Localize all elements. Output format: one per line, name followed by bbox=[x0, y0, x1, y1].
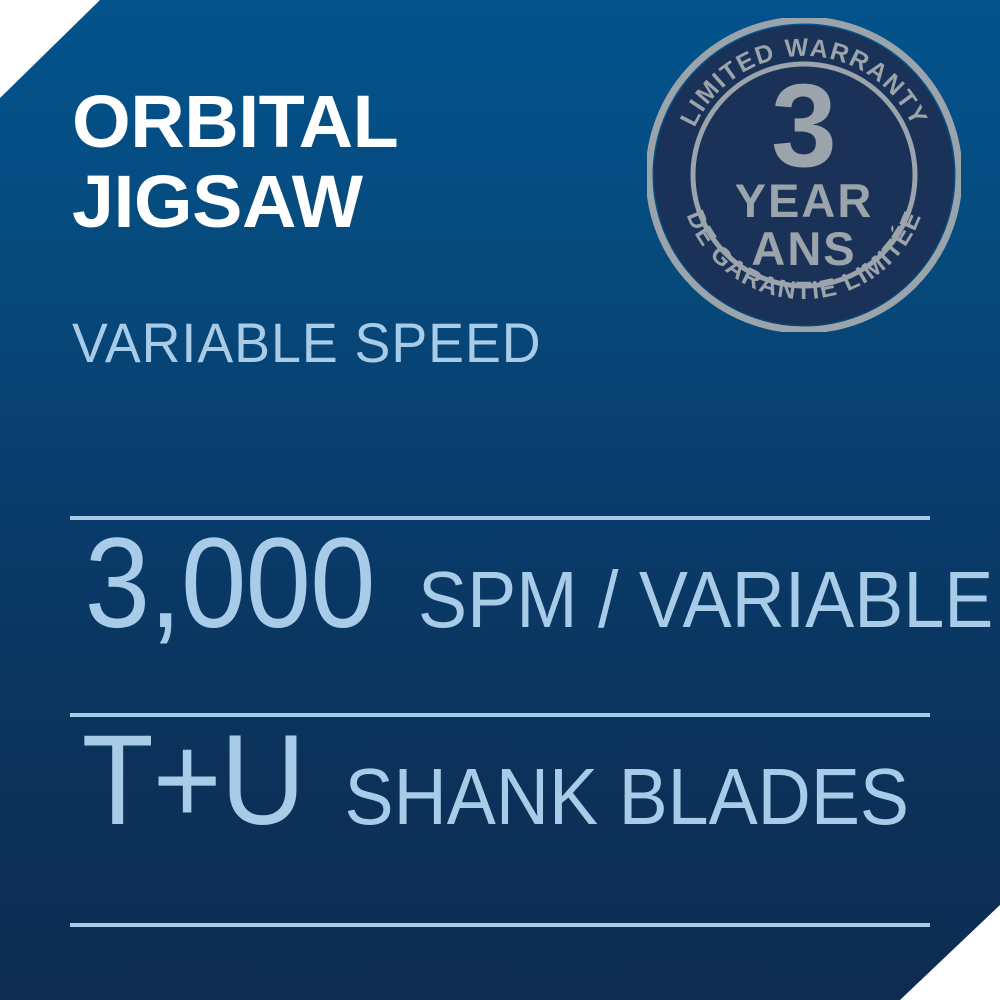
spec-value-speed: 3,000 bbox=[85, 520, 375, 648]
badge-year-label-en: YEAR bbox=[735, 174, 874, 227]
spec-row-blades: T+U SHANK BLADES bbox=[70, 717, 930, 923]
spec-value-blades: T+U bbox=[82, 717, 305, 845]
title-line-2: JIGSAW bbox=[72, 162, 643, 242]
badge-year-label-fr: ANS bbox=[751, 222, 856, 275]
subtitle: VARIABLE SPEED bbox=[72, 312, 542, 374]
title-line-1: ORBITAL bbox=[72, 82, 643, 162]
product-feature-card: ORBITAL JIGSAW VARIABLE SPEED LIMITED WA… bbox=[0, 0, 1000, 1000]
badge-year-number: 3 bbox=[771, 60, 837, 192]
spec-unit-speed: SPM / VARIABLE bbox=[418, 560, 993, 640]
spec-unit-blades: SHANK BLADES bbox=[345, 757, 909, 837]
spec-list: 3,000 SPM / VARIABLE T+U SHANK BLADES bbox=[70, 516, 930, 927]
spec-row-speed: 3,000 SPM / VARIABLE bbox=[70, 520, 930, 713]
page-title: ORBITAL JIGSAW bbox=[72, 82, 632, 242]
warranty-badge: LIMITED WARRANTY DE GARANTIE LIMITÉE 3 Y… bbox=[647, 18, 961, 332]
spec-divider-bottom bbox=[70, 923, 930, 927]
